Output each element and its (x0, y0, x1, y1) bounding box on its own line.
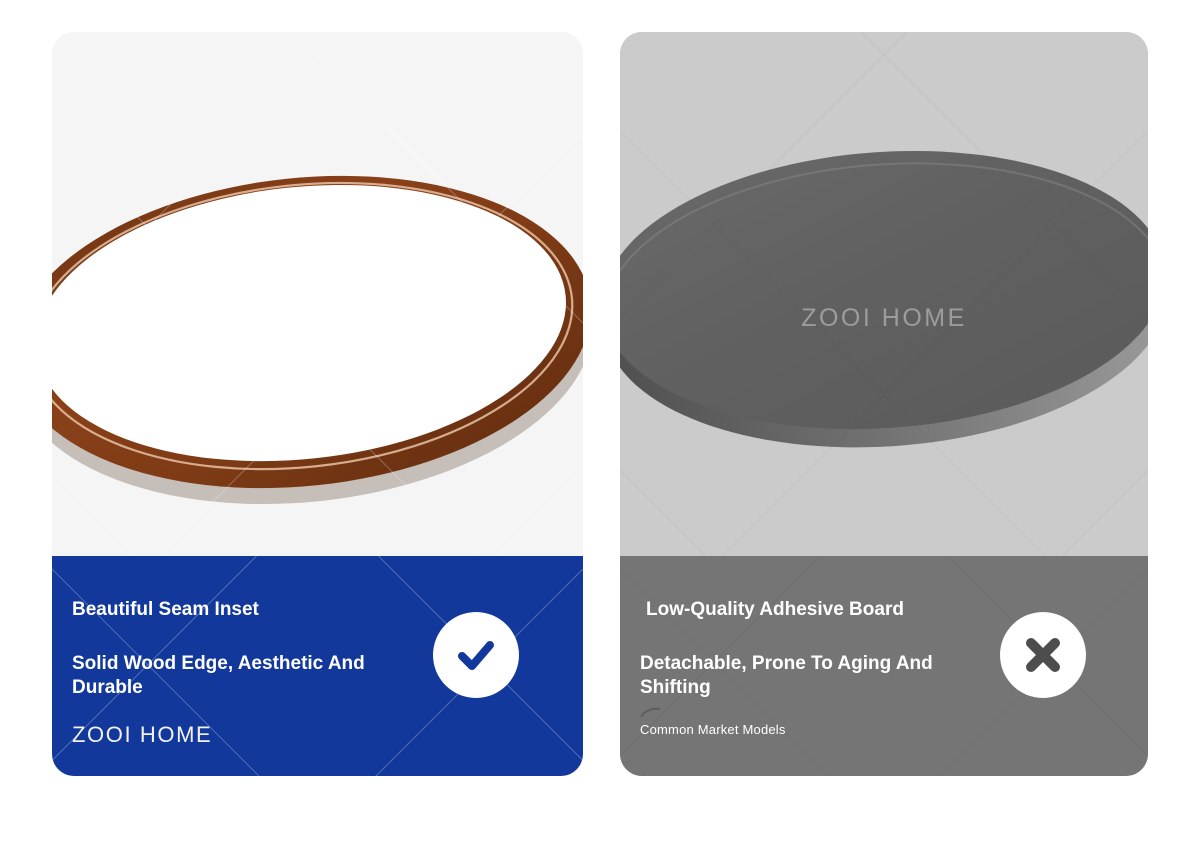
negative-title: Low-Quality Adhesive Board (646, 598, 1006, 622)
cross-icon (1017, 629, 1069, 681)
negative-caption-bar: Low-Quality Adhesive Board Detachable, P… (620, 556, 1148, 776)
check-icon (451, 630, 501, 680)
positive-title: Beautiful Seam Inset (72, 598, 432, 622)
positive-caption-bar: Beautiful Seam Inset Solid Wood Edge, Ae… (52, 556, 583, 776)
negative-subtitle: Detachable, Prone To Aging And Shifting (640, 652, 990, 701)
check-badge (433, 612, 519, 698)
cross-badge (1000, 612, 1086, 698)
comparison-infographic: ZOOI HOME Beautiful Seam Inset Solid Woo… (0, 0, 1200, 851)
negative-note-label: Common Market Models (640, 722, 786, 737)
negative-comparison-card[interactable]: ZOOI HOME Low-Quality Adhesive Board Det… (620, 32, 1148, 776)
positive-subtitle: Solid Wood Edge, Aesthetic And Durable (72, 652, 422, 701)
negative-note: Common Market Models (640, 722, 1148, 737)
positive-comparison-card[interactable]: ZOOI HOME Beautiful Seam Inset Solid Woo… (52, 32, 583, 776)
solid-wood-edge-oval-tabletop-image: ZOOI HOME (52, 32, 583, 556)
gray-tabletop-illustration (620, 32, 1148, 556)
wood-edge-oval-illustration (52, 32, 583, 556)
smudge-artifact-icon (640, 707, 662, 719)
brand-label: ZOOI HOME (72, 722, 583, 748)
low-quality-adhesive-gray-tabletop-image: ZOOI HOME (620, 32, 1148, 556)
